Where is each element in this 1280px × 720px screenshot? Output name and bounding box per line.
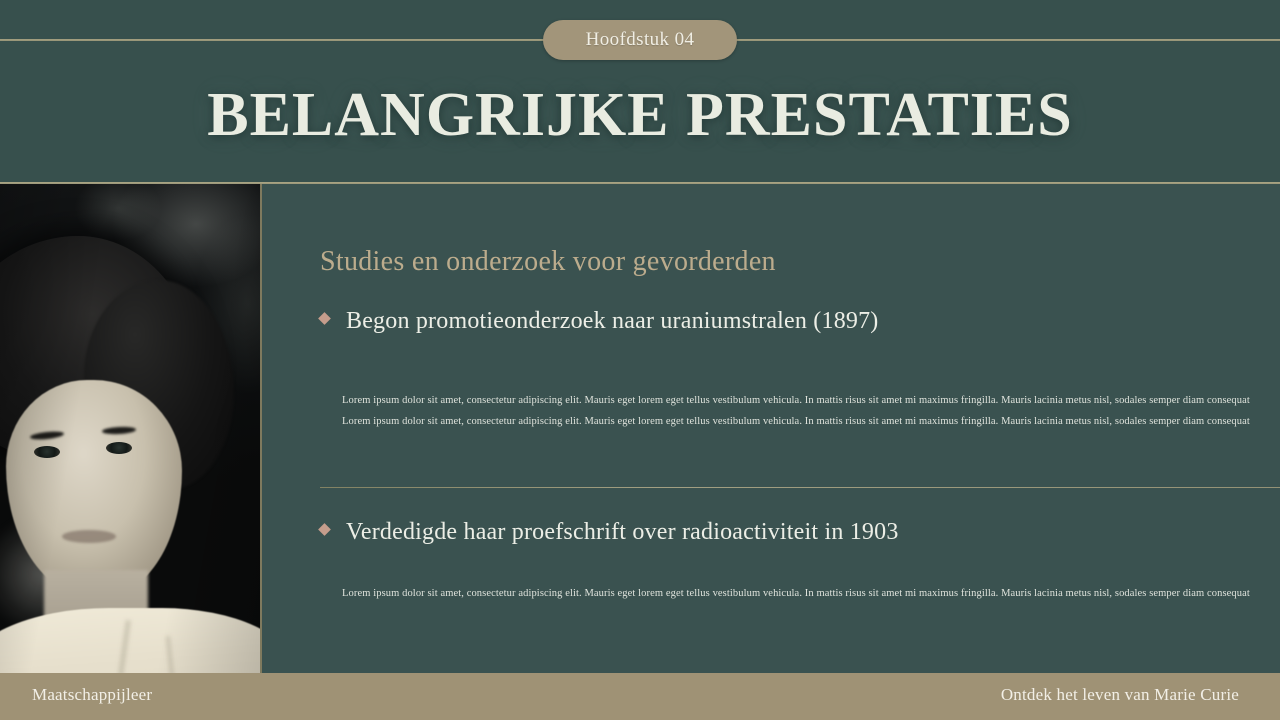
chapter-badge-label: Hoofdstuk 04 bbox=[586, 29, 695, 51]
footer-tagline-label: Ontdek het leven van Marie Curie bbox=[1001, 685, 1239, 705]
chapter-badge: Hoofdstuk 04 bbox=[543, 20, 737, 60]
footer-subject-label: Maatschappijleer bbox=[32, 685, 152, 705]
slide-footer: Maatschappijleer Ontdek het leven van Ma… bbox=[0, 673, 1280, 720]
body-paragraph: Lorem ipsum dolor sit amet, consectetur … bbox=[342, 411, 1252, 432]
list-item: Begon promotieonderzoek naar uraniumstra… bbox=[320, 308, 879, 335]
list-item-label: Verdedigde haar proefschrift over radioa… bbox=[346, 519, 899, 546]
list-item: Verdedigde haar proefschrift over radioa… bbox=[320, 519, 899, 546]
content-divider bbox=[320, 487, 1280, 488]
list-item-label: Begon promotieonderzoek naar uraniumstra… bbox=[346, 308, 879, 335]
section-heading: Studies en onderzoek voor gevorderden bbox=[320, 246, 776, 278]
slide-header: Hoofdstuk 04 BELANGRIJKE PRESTATIES bbox=[0, 0, 1280, 184]
header-bottom-divider bbox=[0, 182, 1280, 184]
portrait-eye-right bbox=[106, 442, 132, 454]
portrait-blouse bbox=[0, 608, 262, 673]
portrait-lips bbox=[62, 530, 116, 543]
page-title: BELANGRIJKE PRESTATIES bbox=[0, 78, 1280, 152]
slide-content: Studies en onderzoek voor gevorderden Be… bbox=[262, 184, 1280, 673]
body-paragraph: Lorem ipsum dolor sit amet, consectetur … bbox=[342, 390, 1252, 411]
body-paragraph: Lorem ipsum dolor sit amet, consectetur … bbox=[342, 583, 1252, 604]
diamond-bullet-icon bbox=[318, 312, 331, 325]
diamond-bullet-icon bbox=[318, 523, 331, 536]
presentation-slide: Hoofdstuk 04 BELANGRIJKE PRESTATIES Stud… bbox=[0, 0, 1280, 720]
portrait-eye-left bbox=[34, 446, 60, 458]
portrait-image-panel bbox=[0, 184, 262, 673]
